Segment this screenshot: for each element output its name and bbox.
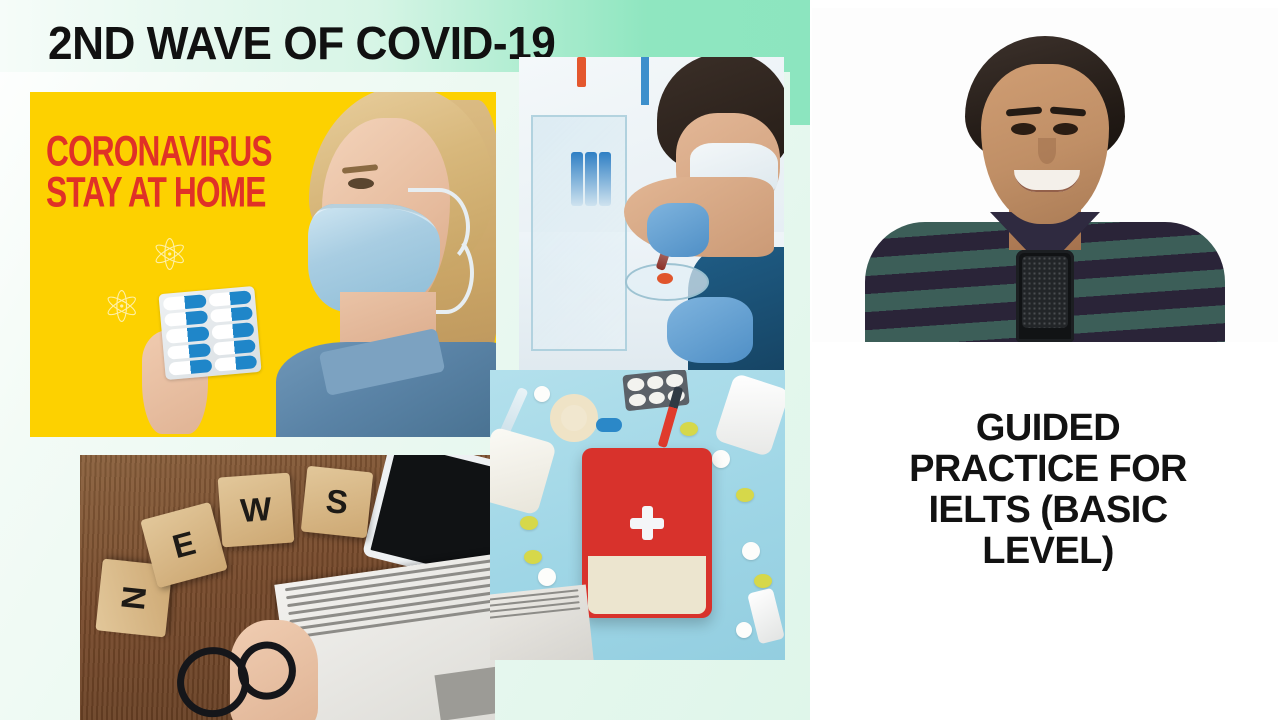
pill-tablet (627, 377, 645, 391)
pill-capsule (164, 310, 207, 327)
newspaper-photo (434, 666, 495, 720)
pill-tablet (666, 373, 684, 387)
pill-capsule (210, 306, 253, 323)
pill-capsule (168, 359, 211, 376)
lab-test-tube (571, 152, 583, 206)
white-tablet (712, 450, 730, 468)
yellow-softgel (754, 574, 772, 588)
slide-stage: 2ND WAVE OF COVID-19 CORONAVIRUS STAY AT… (0, 0, 1280, 720)
pill-capsule (211, 323, 254, 340)
wooden-block-w: W (218, 473, 295, 548)
presenter-eye-left (1011, 123, 1036, 135)
woman-eye (348, 178, 374, 189)
microphone (1016, 250, 1074, 342)
yellow-softgel (680, 422, 698, 436)
caption-line-1: GUIDED (830, 408, 1266, 449)
pill-capsule (166, 327, 209, 344)
caption-line-4: LEVEL) (830, 531, 1266, 572)
blue-glove-upper (647, 203, 709, 257)
lab-test-tube (599, 152, 611, 206)
pill-capsule (167, 343, 210, 360)
pill-tablet (628, 393, 646, 407)
pill-tablet (648, 391, 666, 405)
white-tablet (534, 386, 550, 402)
pill-blister-pack (158, 286, 261, 380)
poster-headline-line1: CORONAVIRUS (46, 130, 284, 172)
sample-drop (657, 273, 673, 284)
white-tablet (742, 542, 760, 560)
presenter-caption: GUIDED PRACTICE FOR IELTS (BASIC LEVEL) (830, 408, 1266, 572)
pill-capsule (163, 294, 206, 311)
pill-capsule (214, 355, 257, 372)
lab-red-marker (577, 57, 586, 87)
pill-capsule (208, 290, 251, 307)
virus-outline-icon-2: ⚛ (102, 282, 141, 333)
presenter-webcam-image (812, 8, 1278, 342)
lab-test-tube (585, 152, 597, 206)
blue-glove-lower (667, 297, 753, 363)
white-tablet (736, 622, 752, 638)
wooden-block-s: S (301, 466, 374, 539)
yellow-softgel (520, 516, 538, 530)
yellow-softgel (524, 550, 542, 564)
blue-capsule (596, 418, 622, 432)
lab-technician-image (519, 57, 784, 382)
caption-line-3: IELTS (BASIC (830, 490, 1266, 531)
first-aid-kit-image (490, 370, 785, 660)
poster-headline: CORONAVIRUS STAY AT HOME (46, 130, 284, 213)
newspaper-corner (490, 584, 594, 660)
poster-headline-line2: STAY AT HOME (46, 172, 284, 214)
lab-glass-enclosure (531, 115, 627, 351)
pill-capsule (212, 339, 255, 356)
medical-tape-roll (550, 394, 598, 442)
pill-tablet (646, 375, 664, 389)
medical-cross-icon (630, 506, 664, 540)
coronavirus-poster-image: CORONAVIRUS STAY AT HOME ⚛ ⚛ ⚛ (30, 92, 496, 437)
yellow-softgel (736, 488, 754, 502)
presenter-nose (1038, 138, 1056, 164)
white-tablet (538, 568, 556, 586)
caption-line-2: PRACTICE FOR (830, 449, 1266, 490)
virus-outline-icon-1: ⚛ (150, 230, 189, 281)
presenter-eye-right (1053, 123, 1078, 135)
first-aid-pouch (582, 448, 712, 618)
masked-woman-figure (292, 92, 496, 437)
slide-title: 2ND WAVE OF COVID-19 (48, 16, 555, 70)
lab-blue-rod (641, 57, 649, 105)
news-blocks-image: N E W S (80, 455, 495, 720)
